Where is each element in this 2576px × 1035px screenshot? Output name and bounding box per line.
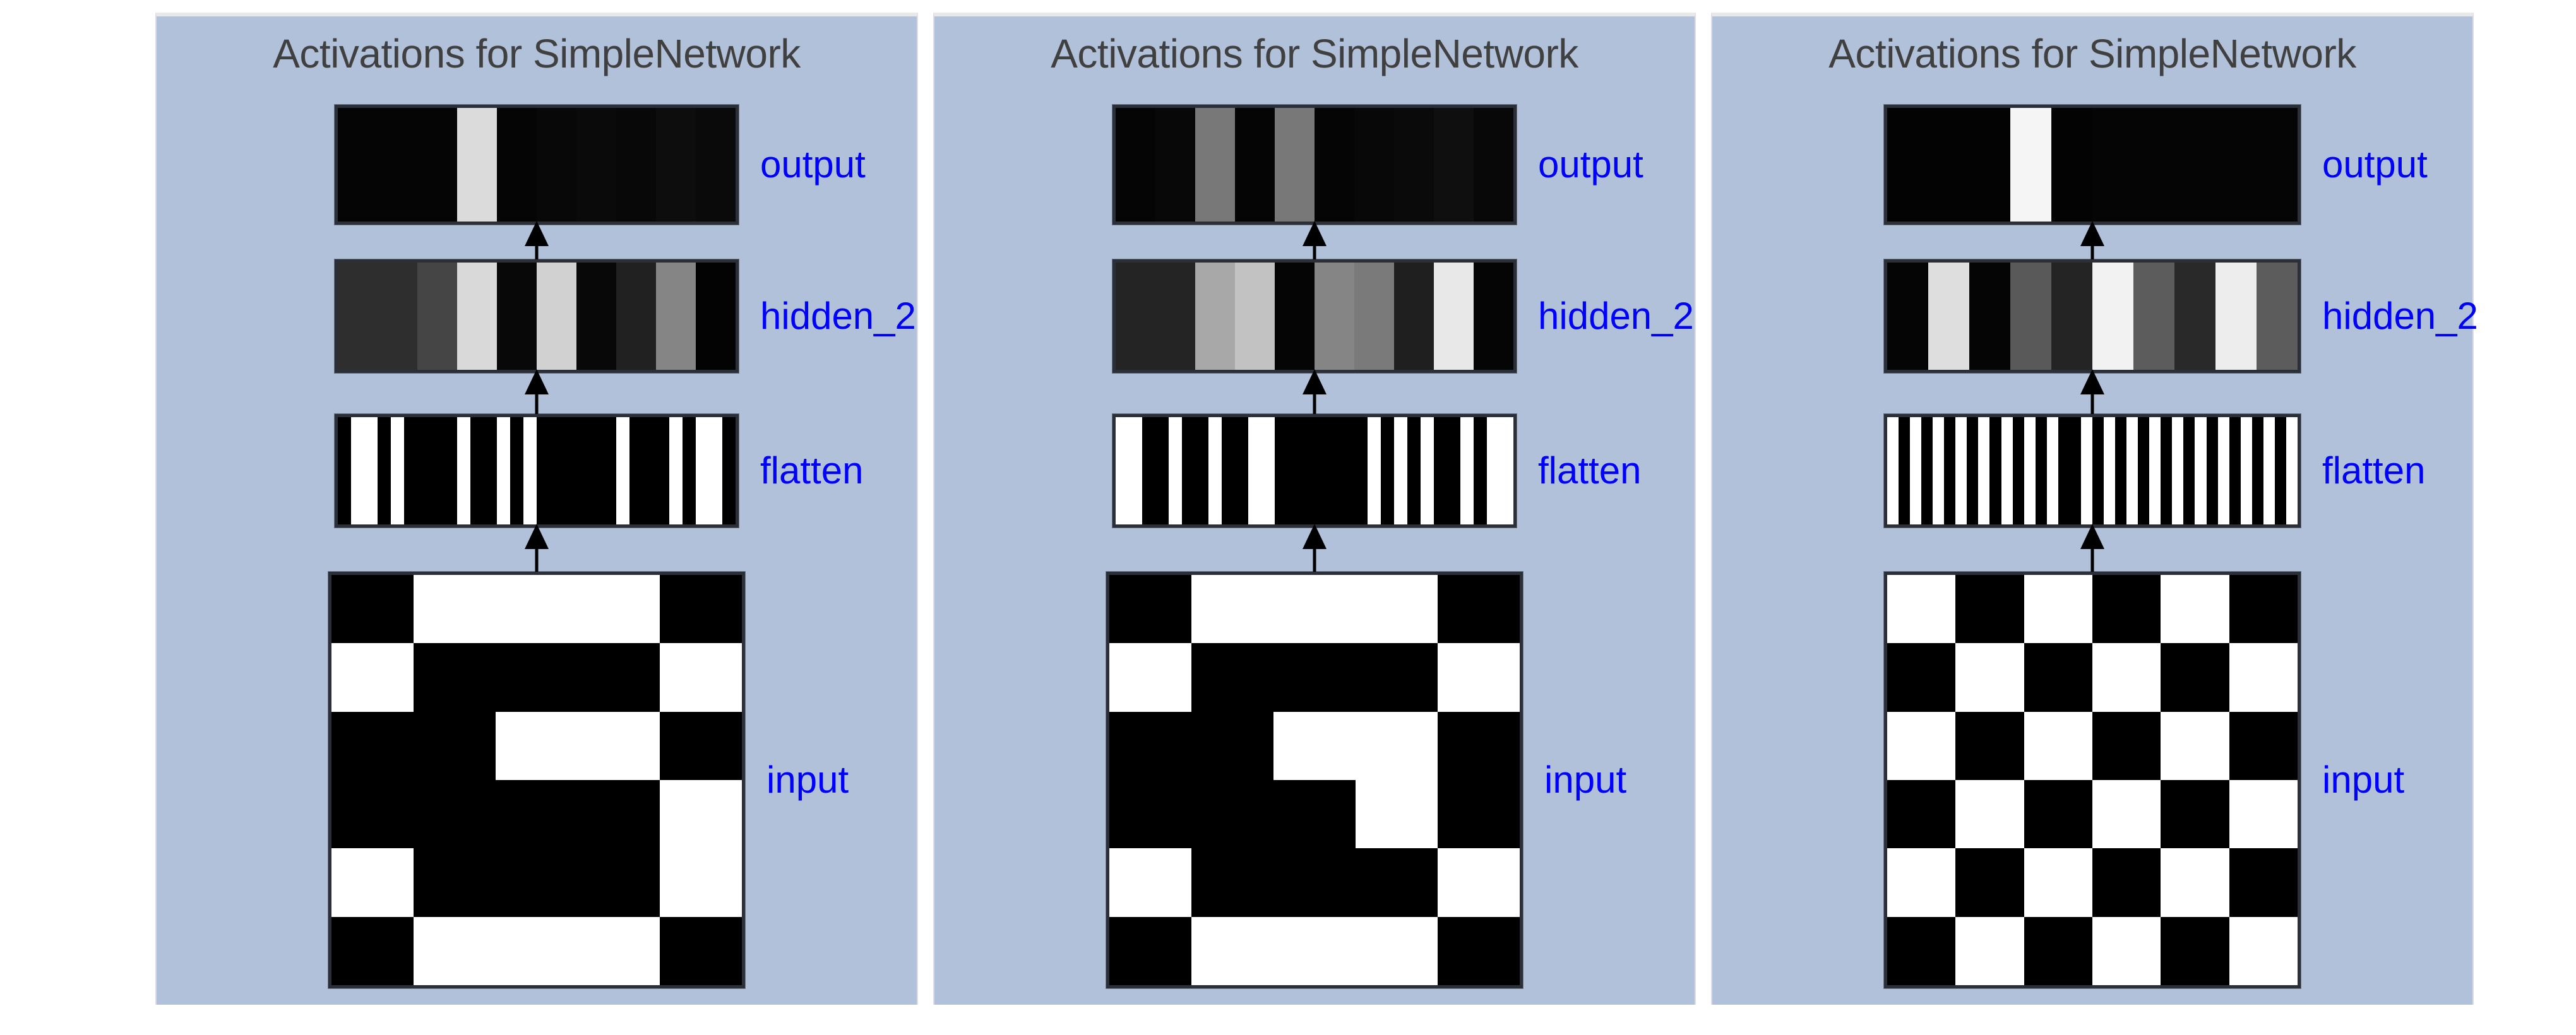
activation-cell — [2013, 417, 2024, 524]
activation-map-output — [1884, 105, 2301, 225]
activation-cell — [563, 417, 576, 524]
activation-cell — [1354, 417, 1368, 524]
activation-cell — [414, 917, 496, 985]
activation-cell — [1394, 417, 1407, 524]
activation-cell — [2133, 108, 2174, 222]
activation-cell — [2081, 417, 2092, 524]
activation-cell — [1460, 417, 1474, 524]
activation-cell — [1116, 263, 1155, 370]
activation-cell — [2161, 417, 2172, 524]
activation-cell — [1438, 575, 1520, 643]
activation-cell — [1955, 417, 1967, 524]
activation-cell — [497, 108, 537, 222]
activation-cell — [1474, 108, 1513, 222]
activation-cell — [2024, 780, 2092, 848]
activation-cell — [2183, 417, 2195, 524]
activation-cell — [1222, 417, 1235, 524]
activation-cell — [414, 848, 496, 916]
activation-cell — [391, 417, 404, 524]
activation-cell — [1191, 780, 1273, 848]
activation-cell — [414, 643, 496, 711]
activation-cell — [431, 417, 444, 524]
layer-row-input: input — [934, 572, 1695, 988]
activation-cell — [1354, 263, 1394, 370]
activation-map-output — [1112, 105, 1517, 225]
activation-cell — [1356, 848, 1438, 916]
activation-cell — [1182, 417, 1195, 524]
activation-cell — [2092, 108, 2133, 222]
activation-cell — [2104, 417, 2115, 524]
activation-cell — [1315, 417, 1328, 524]
activation-cell — [2252, 417, 2263, 524]
activation-map-hidden_2 — [335, 259, 739, 373]
activation-cell — [1969, 263, 2010, 370]
layer-row-output: output — [1712, 105, 2472, 225]
activation-cell — [709, 417, 722, 524]
activation-cell — [484, 417, 497, 524]
activation-cell — [1438, 780, 1520, 848]
activation-cell — [417, 417, 431, 524]
activation-cell — [1474, 417, 1487, 524]
layer-label-input: input — [1544, 760, 1626, 800]
activation-cell — [1487, 417, 1500, 524]
layer-row-flatten: flatten — [157, 414, 917, 528]
activation-cell — [643, 417, 656, 524]
activation-cell — [2161, 917, 2229, 985]
activation-cell — [1195, 417, 1208, 524]
activation-cell — [1275, 263, 1315, 370]
activation-cell — [2218, 417, 2229, 524]
activation-cell — [2241, 417, 2252, 524]
activation-cell — [576, 263, 616, 370]
layer-label-output: output — [2322, 145, 2428, 185]
activation-map-flatten — [335, 414, 739, 528]
activation-cell — [1235, 263, 1275, 370]
activation-cell — [1341, 417, 1354, 524]
activation-cell — [417, 263, 457, 370]
activation-map-flatten — [1112, 414, 1517, 528]
activation-panel: Activations for SimpleNetworkoutputhidde… — [155, 13, 918, 1005]
activation-cell — [669, 417, 683, 524]
activation-cell — [1887, 108, 1928, 222]
activation-cell — [1356, 575, 1438, 643]
activation-cell — [444, 417, 457, 524]
activation-cell — [590, 417, 603, 524]
activation-cell — [1315, 263, 1354, 370]
activation-cell — [656, 263, 696, 370]
activation-cell — [1116, 417, 1129, 524]
layer-label-hidden_2: hidden_2 — [1538, 296, 1694, 336]
activation-cell — [414, 575, 496, 643]
activation-cell — [1109, 712, 1191, 780]
activation-cell — [696, 417, 709, 524]
activation-cell — [1887, 780, 1955, 848]
activation-cell — [1967, 417, 1978, 524]
activation-cell — [1434, 417, 1447, 524]
activation-cell — [578, 712, 660, 780]
activation-cell — [2229, 417, 2241, 524]
activation-cell — [1394, 108, 1434, 222]
activation-cell — [1235, 108, 1275, 222]
activation-cell — [1438, 643, 1520, 711]
layer-label-hidden_2: hidden_2 — [760, 296, 916, 336]
activation-cell — [2024, 848, 2092, 916]
activation-cell — [1248, 417, 1261, 524]
activation-cell — [496, 780, 578, 848]
activation-cell — [1155, 263, 1195, 370]
activation-cell — [2229, 643, 2298, 711]
activation-cell — [2058, 417, 2070, 524]
activation-cell — [404, 417, 417, 524]
activation-cell — [1944, 417, 1955, 524]
activation-cell — [1356, 643, 1438, 711]
activation-cell — [537, 417, 550, 524]
activation-cell — [470, 417, 484, 524]
activation-cell — [1955, 712, 2024, 780]
activation-cell — [2051, 263, 2092, 370]
activation-cell — [1955, 575, 2024, 643]
activation-cell — [1109, 917, 1191, 985]
activation-cell — [1155, 417, 1169, 524]
activation-cell — [578, 780, 660, 848]
activation-cell — [331, 643, 414, 711]
layer-label-output: output — [760, 145, 866, 185]
activation-cell — [1273, 917, 1356, 985]
layer-label-input: input — [2322, 760, 2404, 800]
activation-cell — [457, 263, 497, 370]
activation-cell — [2126, 417, 2138, 524]
layer-row-flatten: flatten — [1712, 414, 2472, 528]
activation-cell — [2257, 263, 2298, 370]
activation-cell — [364, 417, 378, 524]
activation-cell — [1273, 575, 1356, 643]
activation-cell — [331, 712, 414, 780]
activation-cell — [497, 263, 537, 370]
activation-cell — [496, 575, 578, 643]
activation-cell — [496, 848, 578, 916]
activation-cell — [660, 643, 742, 711]
activation-cell — [1955, 917, 2024, 985]
activation-cell — [1275, 417, 1288, 524]
activation-cell — [1887, 848, 1955, 916]
activation-map-input — [1106, 572, 1523, 988]
activation-cell — [1500, 417, 1513, 524]
activation-cell — [660, 848, 742, 916]
activation-cell — [1356, 917, 1438, 985]
activation-cell — [1155, 108, 1195, 222]
activation-cell — [656, 108, 696, 222]
activation-cell — [2092, 643, 2161, 711]
activation-cell — [2161, 712, 2229, 780]
activation-cell — [2257, 108, 2298, 222]
activation-cell — [2138, 417, 2149, 524]
activation-cell — [2092, 917, 2161, 985]
activation-cell — [696, 108, 736, 222]
activation-cell — [2207, 417, 2218, 524]
activation-cell — [1109, 848, 1191, 916]
activation-cell — [616, 417, 629, 524]
activation-cell — [331, 575, 414, 643]
activation-map-flatten — [1884, 414, 2301, 528]
activation-cell — [1955, 848, 2024, 916]
activation-map-hidden_2 — [1112, 259, 1517, 373]
activation-cell — [2051, 108, 2092, 222]
activation-cell — [2275, 417, 2286, 524]
activation-cell — [2133, 263, 2174, 370]
activation-cell — [417, 108, 457, 222]
activation-cell — [2161, 643, 2229, 711]
activation-cell — [1356, 712, 1438, 780]
activation-cell — [1955, 780, 2024, 848]
activation-cell — [2149, 417, 2161, 524]
activation-cell — [2024, 417, 2036, 524]
activation-panel: Activations for SimpleNetworkoutputhidde… — [1711, 13, 2474, 1005]
activation-cell — [1195, 108, 1235, 222]
layer-row-output: output — [934, 105, 1695, 225]
layer-label-output: output — [1538, 145, 1643, 185]
activation-cell — [2174, 108, 2215, 222]
activation-cell — [378, 417, 391, 524]
activation-cell — [2047, 417, 2058, 524]
activation-cell — [2092, 712, 2161, 780]
activation-cell — [338, 417, 351, 524]
activation-cell — [2215, 263, 2257, 370]
activation-cell — [1978, 417, 1989, 524]
activation-cell — [1438, 917, 1520, 985]
activation-cell — [578, 643, 660, 711]
activation-cell — [656, 417, 669, 524]
activation-cell — [537, 263, 576, 370]
activation-cell — [1368, 417, 1381, 524]
activation-cell — [616, 263, 656, 370]
activation-cell — [2010, 108, 2051, 222]
layer-label-flatten: flatten — [2322, 451, 2425, 491]
activation-cell — [497, 417, 510, 524]
activation-cell — [2161, 575, 2229, 643]
activation-cell — [2161, 848, 2229, 916]
activation-cell — [1208, 417, 1222, 524]
activation-cell — [1273, 712, 1356, 780]
activation-cell — [578, 917, 660, 985]
activation-cell — [578, 575, 660, 643]
activation-cell — [1381, 417, 1394, 524]
activation-cell — [338, 108, 378, 222]
activation-cell — [2172, 417, 2183, 524]
activation-cell — [1887, 917, 1955, 985]
layer-row-input: input — [1712, 572, 2472, 988]
activation-cell — [1275, 108, 1315, 222]
layer-row-output: output — [157, 105, 917, 225]
activation-cell — [1989, 417, 2001, 524]
activation-cell — [2215, 108, 2257, 222]
activation-cell — [1969, 108, 2010, 222]
activation-cell — [722, 417, 736, 524]
activation-cell — [1354, 108, 1394, 222]
activation-cell — [1191, 917, 1273, 985]
activation-cell — [1273, 643, 1356, 711]
activation-cell — [1109, 780, 1191, 848]
activation-cell — [2195, 417, 2206, 524]
activation-cell — [1887, 263, 1928, 370]
activation-cell — [1273, 848, 1356, 916]
activation-cell — [696, 263, 736, 370]
activation-cell — [414, 780, 496, 848]
activation-cell — [578, 848, 660, 916]
activation-cell — [1447, 417, 1460, 524]
activation-cell — [2229, 848, 2298, 916]
activation-cell — [1899, 417, 1910, 524]
activation-cell — [616, 108, 656, 222]
activation-cell — [2024, 575, 2092, 643]
activation-cell — [1421, 417, 1434, 524]
activation-cell — [331, 780, 414, 848]
activation-cell — [1191, 712, 1273, 780]
activation-cell — [1195, 263, 1235, 370]
activation-cell — [510, 417, 523, 524]
activation-cell — [1910, 417, 1921, 524]
activation-cell — [2229, 917, 2298, 985]
layer-row-hidden_2: hidden_2 — [157, 259, 917, 373]
activation-cell — [1928, 108, 1969, 222]
activation-cell — [2115, 417, 2126, 524]
activation-cell — [1235, 417, 1248, 524]
activation-cell — [378, 263, 417, 370]
activation-cell — [2092, 848, 2161, 916]
activation-cell — [1394, 263, 1434, 370]
activation-cell — [2070, 417, 2081, 524]
activation-map-input — [328, 572, 745, 988]
panel-title: Activations for SimpleNetwork — [157, 29, 917, 78]
activation-cell — [1438, 712, 1520, 780]
activation-cell — [496, 917, 578, 985]
activation-cell — [1921, 417, 1933, 524]
activation-cell — [1887, 575, 1955, 643]
activation-panel: Activations for SimpleNetworkoutputhidde… — [933, 13, 1696, 1005]
activation-cell — [457, 417, 470, 524]
panel-title: Activations for SimpleNetwork — [934, 29, 1695, 78]
activation-cell — [1109, 643, 1191, 711]
activation-cell — [1129, 417, 1142, 524]
activation-cell — [338, 263, 378, 370]
activation-cell — [660, 575, 742, 643]
activation-cell — [1142, 417, 1155, 524]
activation-cell — [660, 712, 742, 780]
activation-cell — [2024, 712, 2092, 780]
activation-cell — [2024, 917, 2092, 985]
layer-row-flatten: flatten — [934, 414, 1695, 528]
activation-cell — [2036, 417, 2047, 524]
activation-cell — [1933, 417, 1944, 524]
activation-cell — [576, 417, 590, 524]
activation-cell — [629, 417, 643, 524]
activation-cell — [414, 712, 496, 780]
activation-map-hidden_2 — [1884, 259, 2301, 373]
activation-cell — [2229, 712, 2298, 780]
activation-cell — [351, 417, 364, 524]
activation-cell — [2092, 263, 2133, 370]
activation-cell — [2010, 263, 2051, 370]
activation-cell — [1116, 108, 1155, 222]
activation-figure: Activations for SimpleNetworkoutputhidde… — [0, 0, 2576, 1035]
layer-row-input: input — [157, 572, 917, 988]
panel-title: Activations for SimpleNetwork — [1712, 29, 2472, 78]
activation-cell — [660, 780, 742, 848]
activation-cell — [1955, 643, 2024, 711]
activation-cell — [1191, 848, 1273, 916]
activation-cell — [660, 917, 742, 985]
activation-cell — [331, 848, 414, 916]
activation-cell — [603, 417, 616, 524]
activation-cell — [1356, 780, 1438, 848]
activation-cell — [1474, 263, 1513, 370]
activation-cell — [1407, 417, 1421, 524]
activation-cell — [1887, 643, 1955, 711]
activation-cell — [576, 108, 616, 222]
activation-cell — [2229, 575, 2298, 643]
activation-cell — [1288, 417, 1301, 524]
layer-row-hidden_2: hidden_2 — [934, 259, 1695, 373]
activation-map-input — [1884, 572, 2301, 988]
activation-cell — [1434, 263, 1474, 370]
layer-row-hidden_2: hidden_2 — [1712, 259, 2472, 373]
activation-cell — [537, 108, 576, 222]
activation-cell — [1315, 108, 1354, 222]
activation-cell — [1301, 417, 1315, 524]
activation-cell — [2092, 417, 2104, 524]
activation-cell — [1887, 417, 1899, 524]
activation-cell — [2161, 780, 2229, 848]
activation-cell — [2001, 417, 2013, 524]
activation-cell — [457, 108, 497, 222]
activation-cell — [2229, 780, 2298, 848]
activation-cell — [2286, 417, 2298, 524]
activation-cell — [2092, 575, 2161, 643]
activation-cell — [683, 417, 696, 524]
layer-label-hidden_2: hidden_2 — [2322, 296, 2478, 336]
activation-cell — [1109, 575, 1191, 643]
activation-cell — [1191, 643, 1273, 711]
activation-cell — [331, 917, 414, 985]
activation-cell — [378, 108, 417, 222]
activation-cell — [496, 643, 578, 711]
layer-label-flatten: flatten — [1538, 451, 1641, 491]
activation-cell — [1191, 575, 1273, 643]
activation-cell — [496, 712, 578, 780]
activation-cell — [1273, 780, 1356, 848]
activation-cell — [1434, 108, 1474, 222]
activation-cell — [1169, 417, 1182, 524]
activation-cell — [550, 417, 563, 524]
activation-cell — [1928, 263, 1969, 370]
activation-cell — [523, 417, 537, 524]
activation-cell — [2174, 263, 2215, 370]
layer-label-flatten: flatten — [760, 451, 863, 491]
activation-cell — [2263, 417, 2275, 524]
activation-cell — [1261, 417, 1275, 524]
activation-cell — [1887, 712, 1955, 780]
activation-cell — [1438, 848, 1520, 916]
activation-cell — [2024, 643, 2092, 711]
activation-cell — [2092, 780, 2161, 848]
activation-cell — [1328, 417, 1341, 524]
activation-map-output — [335, 105, 739, 225]
layer-label-input: input — [766, 760, 849, 800]
